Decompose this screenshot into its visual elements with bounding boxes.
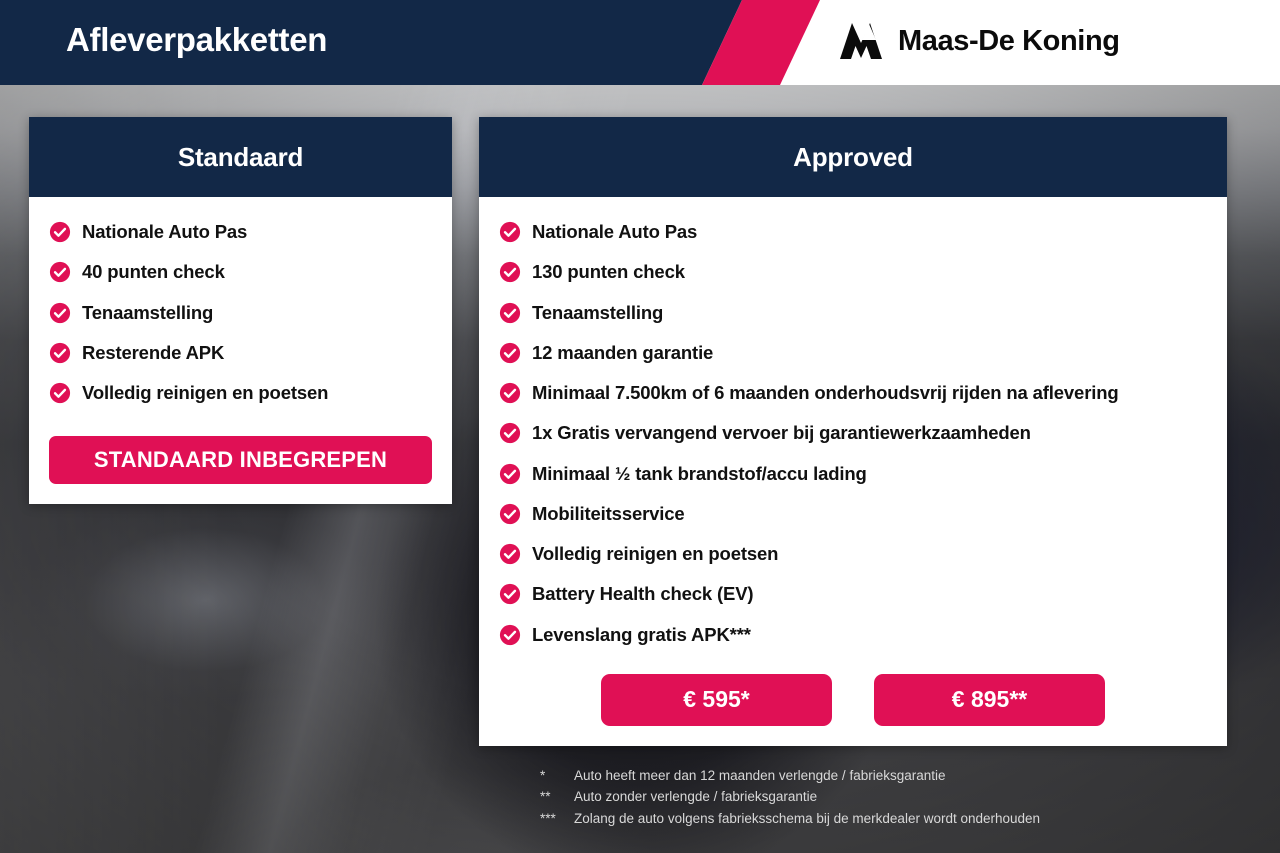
footnote-text: Auto zonder verlengde / fabrieksgarantie bbox=[574, 786, 817, 807]
footnote-double-star: ** Auto zonder verlengde / fabrieksgaran… bbox=[540, 786, 1040, 807]
price-button-595[interactable]: € 595* bbox=[601, 674, 832, 726]
page-root: Afleverpakketten Maas-De Koning Standaar… bbox=[0, 0, 1280, 853]
check-circle-icon bbox=[49, 342, 71, 364]
feature-label: Mobiliteitsservice bbox=[532, 501, 685, 527]
footnotes: * Auto heeft meer dan 12 maanden verleng… bbox=[540, 765, 1040, 829]
price-buttons: € 595* € 895** bbox=[499, 674, 1207, 726]
footnote-single-star: * Auto heeft meer dan 12 maanden verleng… bbox=[540, 765, 1040, 786]
list-item: Mobiliteitsservice bbox=[499, 501, 1207, 527]
list-item: Levenslang gratis APK*** bbox=[499, 622, 1207, 648]
standaard-inbegrepen-button[interactable]: STANDAARD INBEGREPEN bbox=[49, 436, 432, 484]
feature-label: Nationale Auto Pas bbox=[532, 219, 697, 245]
feature-label: Volledig reinigen en poetsen bbox=[532, 541, 778, 567]
package-card-approved: Approved Nationale Auto Pas 130 punten c… bbox=[479, 117, 1227, 746]
check-circle-icon bbox=[499, 463, 521, 485]
card-title-standaard: Standaard bbox=[178, 142, 303, 173]
feature-label: 130 punten check bbox=[532, 259, 685, 285]
check-circle-icon bbox=[49, 302, 71, 324]
check-circle-icon bbox=[499, 342, 521, 364]
feature-label: Tenaamstelling bbox=[82, 300, 213, 326]
page-header: Afleverpakketten Maas-De Koning bbox=[0, 0, 1280, 85]
list-item: Tenaamstelling bbox=[49, 300, 432, 326]
feature-list-standaard: Nationale Auto Pas 40 punten check Tenaa… bbox=[49, 219, 432, 406]
list-item: 40 punten check bbox=[49, 259, 432, 285]
card-title-approved: Approved bbox=[793, 142, 913, 173]
footnote-marker: ** bbox=[540, 786, 574, 807]
feature-label: 1x Gratis vervangend vervoer bij garanti… bbox=[532, 420, 1031, 446]
card-header-standaard: Standaard bbox=[29, 117, 452, 197]
footnote-text: Zolang de auto volgens fabrieksschema bi… bbox=[574, 808, 1040, 829]
list-item: Tenaamstelling bbox=[499, 300, 1207, 326]
package-cards: Standaard Nationale Auto Pas 40 punten c… bbox=[0, 117, 1280, 746]
check-circle-icon bbox=[49, 261, 71, 283]
list-item: Volledig reinigen en poetsen bbox=[499, 541, 1207, 567]
list-item: 12 maanden garantie bbox=[499, 340, 1207, 366]
feature-label: Minimaal 7.500km of 6 maanden onderhouds… bbox=[532, 380, 1119, 406]
feature-label: 12 maanden garantie bbox=[532, 340, 713, 366]
feature-label: Volledig reinigen en poetsen bbox=[82, 380, 328, 406]
card-body-approved: Nationale Auto Pas 130 punten check Tena… bbox=[479, 197, 1227, 746]
list-item: 1x Gratis vervangend vervoer bij garanti… bbox=[499, 420, 1207, 446]
list-item: Minimaal ½ tank brandstof/accu lading bbox=[499, 461, 1207, 487]
list-item: Nationale Auto Pas bbox=[499, 219, 1207, 245]
feature-label: Nationale Auto Pas bbox=[82, 219, 247, 245]
list-item: Minimaal 7.500km of 6 maanden onderhouds… bbox=[499, 380, 1207, 406]
card-body-standaard: Nationale Auto Pas 40 punten check Tenaa… bbox=[29, 197, 452, 504]
check-circle-icon bbox=[49, 221, 71, 243]
maas-de-koning-m-logo-icon bbox=[838, 21, 884, 61]
footnote-text: Auto heeft meer dan 12 maanden verlengde… bbox=[574, 765, 946, 786]
brand-name: Maas-De Koning bbox=[898, 25, 1120, 58]
feature-label: Battery Health check (EV) bbox=[532, 581, 753, 607]
feature-label: Levenslang gratis APK*** bbox=[532, 622, 751, 648]
feature-label: Resterende APK bbox=[82, 340, 224, 366]
list-item: Nationale Auto Pas bbox=[49, 219, 432, 245]
check-circle-icon bbox=[499, 583, 521, 605]
check-circle-icon bbox=[499, 221, 521, 243]
page-title: Afleverpakketten bbox=[66, 21, 327, 59]
list-item: 130 punten check bbox=[499, 259, 1207, 285]
list-item: Volledig reinigen en poetsen bbox=[49, 380, 432, 406]
check-circle-icon bbox=[499, 624, 521, 646]
footnote-marker: *** bbox=[540, 808, 574, 829]
package-card-standaard: Standaard Nationale Auto Pas 40 punten c… bbox=[29, 117, 452, 504]
feature-label: Minimaal ½ tank brandstof/accu lading bbox=[532, 461, 867, 487]
feature-label: Tenaamstelling bbox=[532, 300, 663, 326]
check-circle-icon bbox=[499, 422, 521, 444]
check-circle-icon bbox=[499, 382, 521, 404]
list-item: Resterende APK bbox=[49, 340, 432, 366]
check-circle-icon bbox=[49, 382, 71, 404]
check-circle-icon bbox=[499, 543, 521, 565]
card-header-approved: Approved bbox=[479, 117, 1227, 197]
footnote-marker: * bbox=[540, 765, 574, 786]
check-circle-icon bbox=[499, 503, 521, 525]
price-button-895[interactable]: € 895** bbox=[874, 674, 1105, 726]
footnote-triple-star: *** Zolang de auto volgens fabrieksschem… bbox=[540, 808, 1040, 829]
feature-label: 40 punten check bbox=[82, 259, 225, 285]
check-circle-icon bbox=[499, 261, 521, 283]
brand-logo: Maas-De Koning bbox=[838, 21, 1120, 61]
feature-list-approved: Nationale Auto Pas 130 punten check Tena… bbox=[499, 219, 1207, 648]
list-item: Battery Health check (EV) bbox=[499, 581, 1207, 607]
check-circle-icon bbox=[499, 302, 521, 324]
